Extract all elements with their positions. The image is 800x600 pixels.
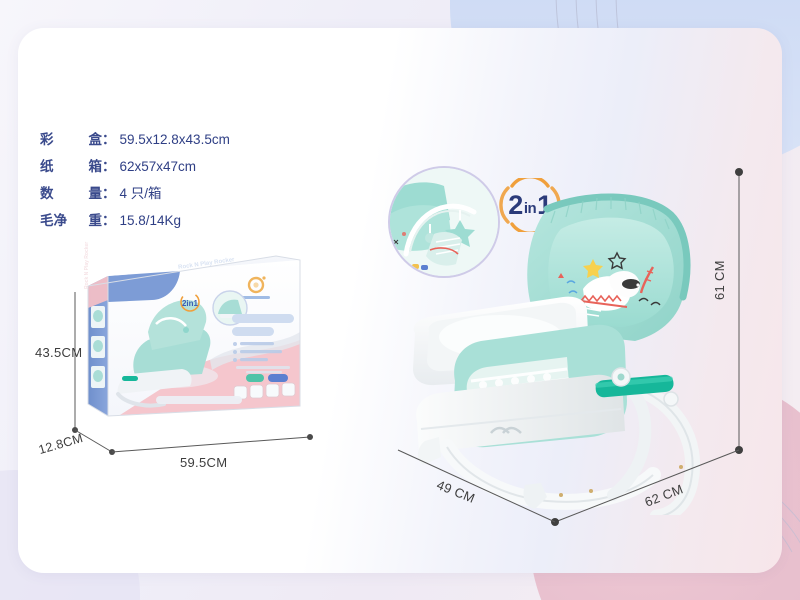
dimension-product-height: 61 CM xyxy=(712,260,727,300)
product-dimension-callouts xyxy=(0,0,800,600)
specification-sheet: 彩盒 ： 59.5x12.8x43.5cm 纸箱 ： 62x57x47cm 数量… xyxy=(0,0,800,600)
